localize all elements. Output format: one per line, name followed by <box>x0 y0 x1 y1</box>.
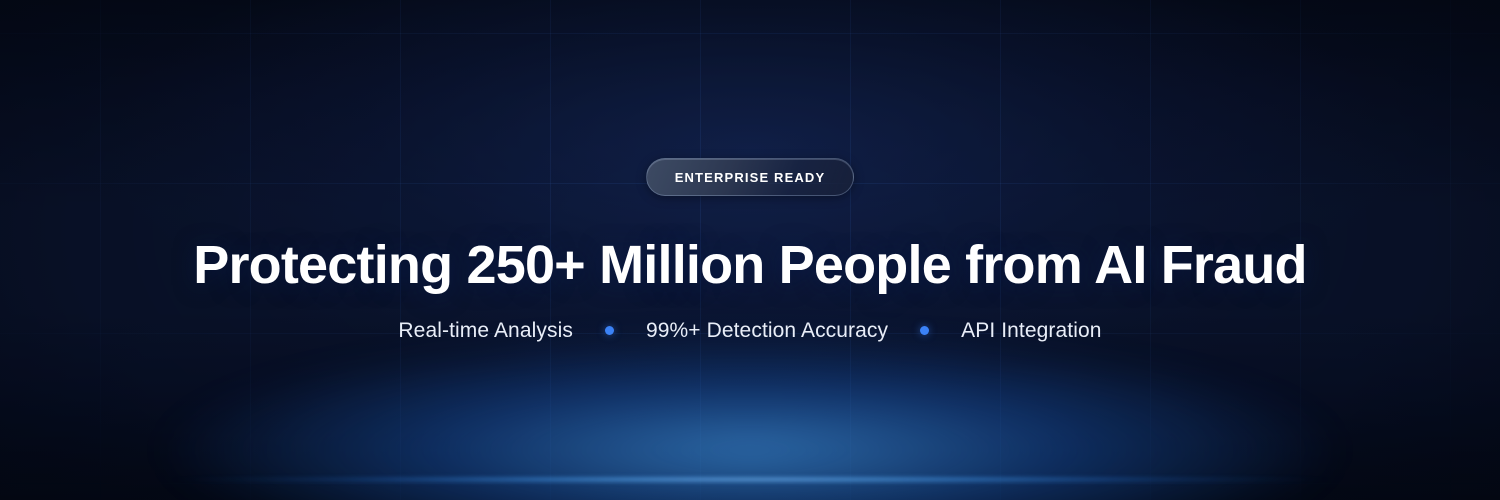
hero-content: ENTERPRISE READY Protecting 250+ Million… <box>0 0 1500 500</box>
page-title: Protecting 250+ Million People from AI F… <box>193 236 1307 294</box>
badge-label: ENTERPRISE READY <box>675 171 826 184</box>
hero-banner: ENTERPRISE READY Protecting 250+ Million… <box>0 0 1500 500</box>
feature-item-detection-accuracy: 99%+ Detection Accuracy <box>646 320 888 341</box>
bullet-separator-icon <box>920 326 929 335</box>
bullet-separator-icon <box>605 326 614 335</box>
enterprise-ready-badge[interactable]: ENTERPRISE READY <box>646 158 855 196</box>
feature-item-api-integration: API Integration <box>961 320 1101 341</box>
feature-item-realtime-analysis: Real-time Analysis <box>398 320 573 341</box>
feature-list: Real-time Analysis 99%+ Detection Accura… <box>398 320 1101 341</box>
